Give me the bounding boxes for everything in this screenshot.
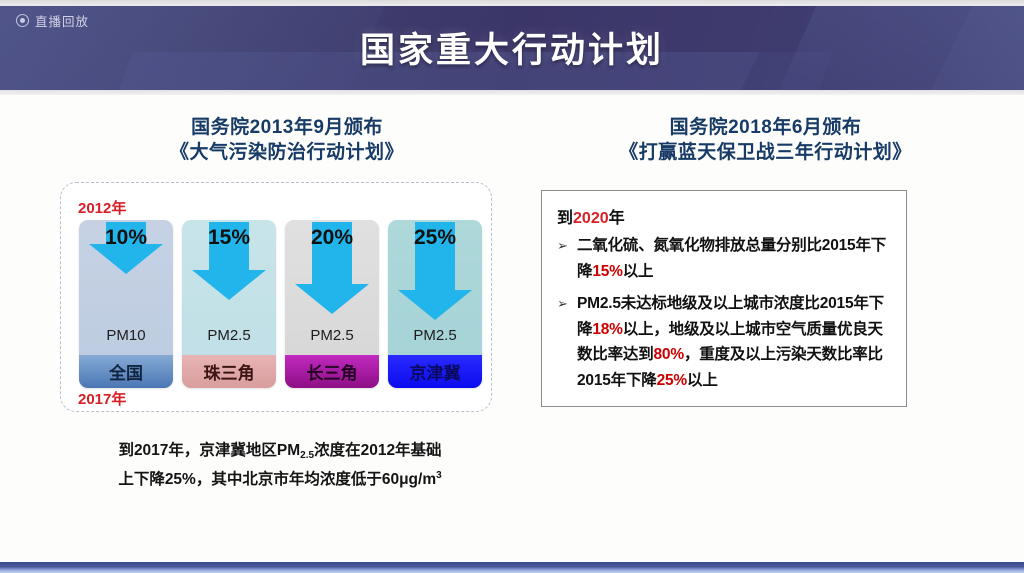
year-label-start: 2012年 bbox=[78, 197, 126, 218]
reduction-column-1: 10%PM10全国 bbox=[79, 220, 173, 388]
reduction-column-4: 25%PM2.5京津冀 bbox=[388, 220, 482, 388]
year-label-end: 2017年 bbox=[78, 388, 126, 409]
pollutant-metric: PM2.5 bbox=[388, 327, 482, 344]
left-caption: 到2017年，京津冀地区PM2.5浓度在2012年基础 上下降25%，其中北京市… bbox=[60, 437, 500, 495]
left-section-heading: 国务院2013年9月颁布 《大气污染防治行动计划》 bbox=[62, 115, 512, 165]
right-heading-line2: 《打赢蓝天保卫战三年行动计划》 bbox=[543, 140, 988, 165]
caption-line1b: 浓度在2012年基础 bbox=[314, 442, 441, 459]
region-label: 京津冀 bbox=[388, 355, 482, 388]
region-label: 全国 bbox=[79, 355, 173, 388]
banner-top-edge bbox=[0, 0, 1024, 6]
pollutant-metric: PM2.5 bbox=[182, 327, 276, 344]
goal-bullet-2: ➢PM2.5未达标地级及以上城市浓度比2015年下降18%以上，地级及以上城市空… bbox=[557, 291, 891, 393]
bullet-arrow-icon: ➢ bbox=[557, 291, 570, 393]
left-heading-line1: 国务院2013年9月颁布 bbox=[62, 115, 512, 140]
goals-panel: 到2020年 ➢二氧化硫、氮氧化物排放总量分别比2015年下降15%以上➢PM2… bbox=[541, 190, 907, 407]
bullet-text: 二氧化硫、氮氧化物排放总量分别比2015年下降15%以上 bbox=[577, 233, 891, 284]
reduction-column-group: 10%PM10全国15%PM2.5珠三角20%PM2.5长三角25%PM2.5京… bbox=[79, 220, 482, 388]
banner-bottom-edge bbox=[0, 90, 1024, 95]
caption-line2: 上下降25%，其中北京市年均浓度低于60μg/m bbox=[118, 471, 436, 488]
bullet-arrow-icon: ➢ bbox=[557, 233, 570, 284]
reduction-percent: 15% bbox=[182, 226, 276, 250]
region-label: 长三角 bbox=[285, 355, 379, 388]
caption-line1a: 到2017年，京津冀地区PM bbox=[118, 442, 300, 459]
pollutant-metric: PM10 bbox=[79, 327, 173, 344]
bullet-text: PM2.5未达标地级及以上城市浓度比2015年下降18%以上，地级及以上城市空气… bbox=[577, 291, 891, 393]
panel-title-suffix: 年 bbox=[609, 210, 625, 227]
reduction-column-3: 20%PM2.5长三角 bbox=[285, 220, 379, 388]
panel-title-prefix: 到 bbox=[557, 210, 573, 227]
record-circle-icon bbox=[16, 14, 29, 27]
region-label: 珠三角 bbox=[182, 355, 276, 388]
page-title: 国家重大行动计划 bbox=[0, 22, 1024, 73]
panel-title: 到2020年 bbox=[557, 204, 891, 228]
left-heading-line2: 《大气污染防治行动计划》 bbox=[62, 140, 512, 165]
goal-bullet-1: ➢二氧化硫、氮氧化物排放总量分别比2015年下降15%以上 bbox=[557, 233, 891, 284]
reduction-column-2: 15%PM2.5珠三角 bbox=[182, 220, 276, 388]
caption-superscript: 3 bbox=[436, 470, 442, 481]
right-heading-line1: 国务院2018年6月颁布 bbox=[543, 115, 988, 140]
reduction-percent: 20% bbox=[285, 226, 379, 250]
goals-bullet-list: ➢二氧化硫、氮氧化物排放总量分别比2015年下降15%以上➢PM2.5未达标地级… bbox=[557, 233, 891, 393]
footer-bar bbox=[0, 562, 1024, 573]
live-replay-watermark: 直播回放 bbox=[16, 11, 89, 30]
slide-root: 直播回放 国家重大行动计划 国务院2013年9月颁布 《大气污染防治行动计划》 … bbox=[0, 0, 1024, 573]
panel-title-year: 2020 bbox=[573, 210, 609, 227]
caption-subscript: 2.5 bbox=[300, 450, 314, 461]
reduction-percent: 25% bbox=[388, 226, 482, 250]
watermark-label: 直播回放 bbox=[35, 11, 89, 30]
reduction-percent: 10% bbox=[79, 226, 173, 250]
pollutant-metric: PM2.5 bbox=[285, 327, 379, 344]
right-section-heading: 国务院2018年6月颁布 《打赢蓝天保卫战三年行动计划》 bbox=[543, 115, 988, 165]
